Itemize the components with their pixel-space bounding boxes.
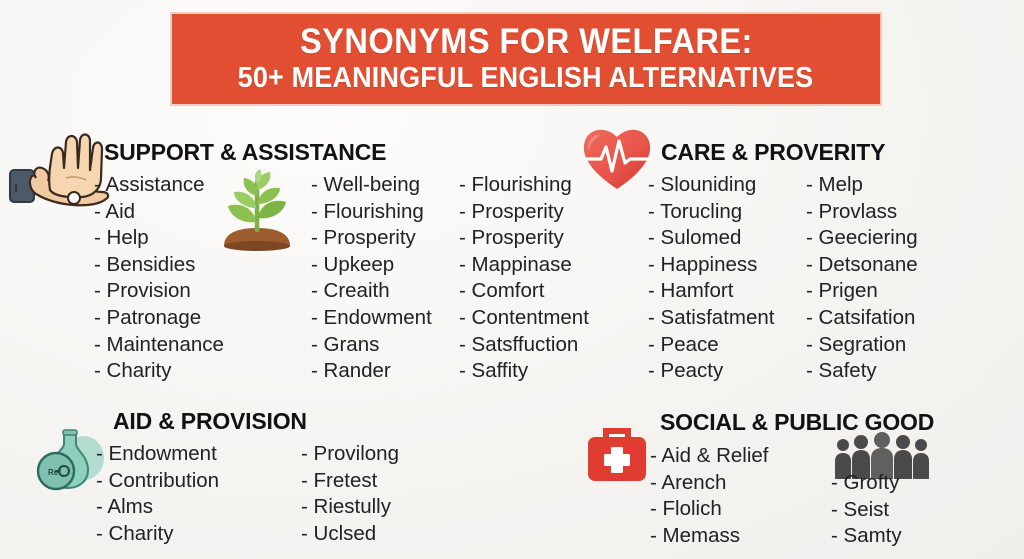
- list-item: - Grans: [311, 332, 432, 359]
- list-item: - Happiness: [648, 252, 774, 279]
- list-item: - Sulomed: [648, 225, 774, 252]
- list-item: - Provision: [94, 278, 224, 305]
- list-item: - Endowment: [311, 305, 432, 332]
- list-item: - Safety: [806, 358, 918, 385]
- list-column-care-1: - Slouniding - Torucling - Sulomed - Hap…: [648, 172, 774, 385]
- list-item: - Arench: [650, 470, 769, 497]
- list-item: - Provlass: [806, 199, 918, 226]
- banner-title-line-1: SYNONYMS FOR WELFARE:: [300, 24, 753, 59]
- list-item: - Satisfatment: [648, 305, 774, 332]
- list-item: - Aid & Relief: [650, 443, 769, 470]
- list-item: - Charity: [96, 521, 219, 548]
- list-column-support-2: - Well-being - Flourishing - Prosperity …: [311, 172, 432, 385]
- list-item: - Flourishing: [311, 199, 432, 226]
- list-item: - Slouniding: [648, 172, 774, 199]
- list-item: - Flourishing: [459, 172, 589, 199]
- list-item: - Help: [94, 225, 224, 252]
- list-item: - Grofty: [831, 470, 902, 497]
- list-item: - Prosperity: [311, 225, 432, 252]
- list-item: - Uclsed: [301, 521, 399, 548]
- list-item: - Upkeep: [311, 252, 432, 279]
- list-item: - Satsffuction: [459, 332, 589, 359]
- list-item: - Patronage: [94, 305, 224, 332]
- list-item: - Seist: [831, 497, 902, 524]
- list-item: - Rander: [311, 358, 432, 385]
- list-item: - Detsonane: [806, 252, 918, 279]
- list-item: - Prigen: [806, 278, 918, 305]
- list-item: - Peacty: [648, 358, 774, 385]
- list-column-aid-2: - Provilong - Fretest - Riestully - Ucls…: [301, 441, 399, 547]
- seedling-plant-icon: [212, 166, 302, 254]
- list-item: - Provilong: [301, 441, 399, 468]
- list-column-support-1: - Assistance - Aid - Help - Bensidies - …: [94, 172, 224, 385]
- banner-title-line-2: 50+ MEANINGFUL ENGLISH ALTERNATIVES: [238, 63, 814, 95]
- list-item: - Mappinase: [459, 252, 589, 279]
- list-item: - Maintenance: [94, 332, 224, 359]
- title-banner: SYNONYMS FOR WELFARE: 50+ MEANINGFUL ENG…: [172, 14, 880, 104]
- section-header-care-proverity: CARE & PROVERITY: [661, 139, 885, 166]
- list-item: - Torucling: [648, 199, 774, 226]
- list-item: - Prosperity: [459, 225, 589, 252]
- list-item: - Hamfort: [648, 278, 774, 305]
- list-column-social-2: - Grofty - Seist - Samty: [831, 470, 902, 550]
- list-item: - Comfort: [459, 278, 589, 305]
- section-header-social-public-good: SOCIAL & PUBLIC GOOD: [660, 409, 934, 436]
- list-item: - Bensidies: [94, 252, 224, 279]
- list-item: - Riestully: [301, 494, 399, 521]
- list-column-support-3: - Flourishing - Prosperity - Prosperity …: [459, 172, 589, 385]
- list-item: - Charity: [94, 358, 224, 385]
- list-item: - Peace: [648, 332, 774, 359]
- list-item: - Creaith: [311, 278, 432, 305]
- section-header-support-assistance: SUPPORT & ASSISTANCE: [104, 139, 386, 166]
- list-item: - Segration: [806, 332, 918, 359]
- section-header-aid-provision: AID & PROVISION: [113, 408, 307, 435]
- list-item: - Contentment: [459, 305, 589, 332]
- list-item: - Endowment: [96, 441, 219, 468]
- list-item: - Contribution: [96, 468, 219, 495]
- list-item: - Catsifation: [806, 305, 918, 332]
- list-item: - Samty: [831, 523, 902, 550]
- list-item: - Assistance: [94, 172, 224, 199]
- list-item: - Well-being: [311, 172, 432, 199]
- first-aid-kit-icon: [582, 427, 652, 493]
- list-item: - Prosperity: [459, 199, 589, 226]
- list-item: - Flolich: [650, 496, 769, 523]
- list-item: - Melp: [806, 172, 918, 199]
- list-item: - Fretest: [301, 468, 399, 495]
- list-column-aid-1: - Endowment - Contribution - Alms - Char…: [96, 441, 219, 547]
- heart-heartbeat-icon: [579, 121, 655, 193]
- list-item: - Saffity: [459, 358, 589, 385]
- list-item: - Geeciering: [806, 225, 918, 252]
- list-column-care-2: - Melp - Provlass - Geeciering - Detsona…: [806, 172, 918, 385]
- list-item: - Aid: [94, 199, 224, 226]
- list-item: - Memass: [650, 523, 769, 550]
- list-column-social-1: - Aid & Relief - Arench - Flolich - Mema…: [650, 443, 769, 549]
- list-item: - Alms: [96, 494, 219, 521]
